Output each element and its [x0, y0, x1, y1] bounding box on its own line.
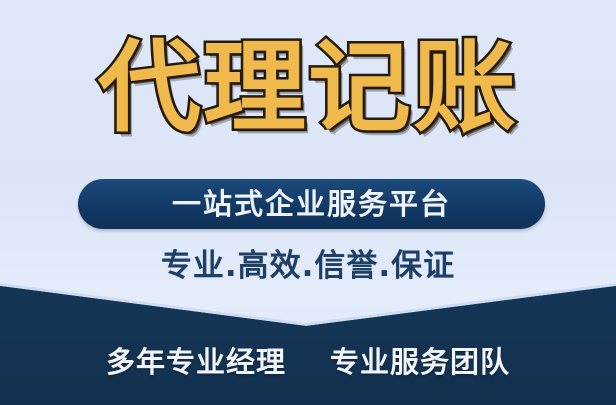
subtitle-pill-banner: 一站式企业服务平台 — [78, 179, 545, 229]
slogan-container: 专业.高效.信誉.保证 — [0, 249, 616, 283]
slogan-label: 专业.高效.信誉.保证 — [161, 249, 455, 283]
tagline-row: 多年专业经理 专业服务团队 — [0, 348, 616, 377]
poster-headline: 代理记账 — [98, 38, 518, 138]
headline-container: 代理记账 — [0, 38, 616, 138]
tagline-team: 专业服务团队 — [330, 348, 510, 377]
promo-poster: 代理记账 一站式企业服务平台 专业.高效.信誉.保证 多年专业经理 专业服务团队 — [0, 0, 616, 405]
tagline-experience: 多年专业经理 — [106, 348, 286, 377]
subtitle-pill-label: 一站式企业服务平台 — [172, 190, 451, 219]
